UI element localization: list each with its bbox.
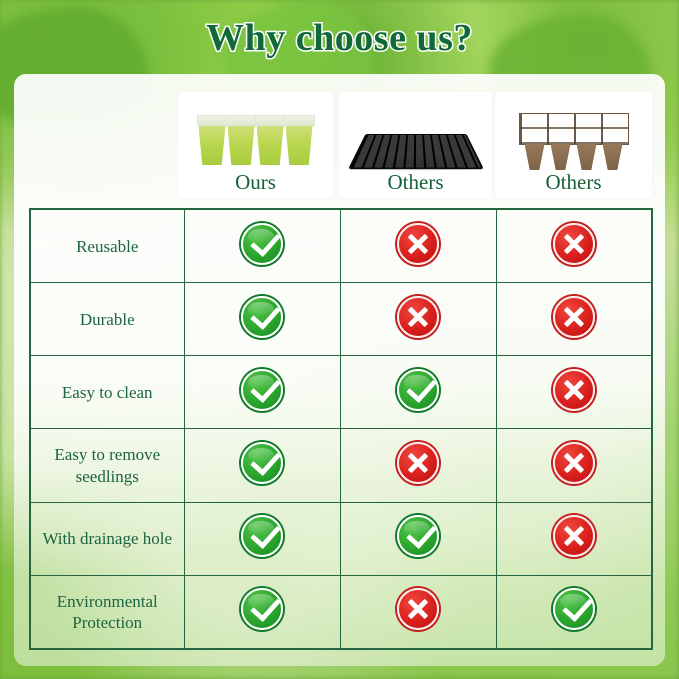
product-card-label-others-1: Others xyxy=(388,171,444,196)
table-row: Environmental Protection xyxy=(30,575,652,649)
check-mark-icon xyxy=(241,515,283,557)
check-mark-icon xyxy=(241,296,283,338)
comparison-table: ReusableDurableEasy to cleanEasy to remo… xyxy=(29,208,653,650)
mark-cell-ours xyxy=(184,356,340,429)
check-mark-icon xyxy=(397,515,439,557)
product-card-ours: Ours xyxy=(178,92,333,198)
product-card-others-black-tray: Others xyxy=(339,92,492,198)
mark-cell-others1 xyxy=(340,283,496,356)
table-row: With drainage hole xyxy=(30,502,652,575)
table-row: Reusable xyxy=(30,209,652,283)
black-plug-tray-icon xyxy=(339,99,492,171)
product-card-label-ours: Ours xyxy=(235,171,276,196)
check-mark-icon xyxy=(241,223,283,265)
feature-label-cell: With drainage hole xyxy=(30,502,184,575)
cross-mark-icon xyxy=(553,223,595,265)
mark-cell-others2 xyxy=(496,575,652,649)
product-card-label-others-2: Others xyxy=(546,171,602,196)
table-row: Durable xyxy=(30,283,652,356)
feature-label-cell: Reusable xyxy=(30,209,184,283)
cross-mark-icon xyxy=(553,369,595,411)
green-plastic-seedling-pots-icon xyxy=(178,99,333,171)
check-mark-icon xyxy=(397,369,439,411)
table-row: Easy to remove seedlings xyxy=(30,429,652,502)
cross-mark-icon xyxy=(553,515,595,557)
check-mark-icon xyxy=(241,369,283,411)
cross-mark-icon xyxy=(553,296,595,338)
mark-cell-ours xyxy=(184,429,340,502)
mark-cell-ours xyxy=(184,575,340,649)
mark-cell-others1 xyxy=(340,575,496,649)
cross-mark-icon xyxy=(397,442,439,484)
mark-cell-ours xyxy=(184,209,340,283)
feature-label-cell: Durable xyxy=(30,283,184,356)
cross-mark-icon xyxy=(397,296,439,338)
cross-mark-icon xyxy=(553,442,595,484)
mark-cell-others1 xyxy=(340,356,496,429)
mark-cell-others2 xyxy=(496,283,652,356)
mark-cell-ours xyxy=(184,283,340,356)
table-row: Easy to clean xyxy=(30,356,652,429)
mark-cell-ours xyxy=(184,502,340,575)
mark-cell-others2 xyxy=(496,356,652,429)
mark-cell-others1 xyxy=(340,209,496,283)
brown-peat-pulp-tray-icon xyxy=(495,99,652,171)
mark-cell-others1 xyxy=(340,429,496,502)
comparison-table-body: ReusableDurableEasy to cleanEasy to remo… xyxy=(30,209,652,649)
page-title: Why choose us? xyxy=(0,16,679,60)
product-card-others-peat-tray: Others xyxy=(495,92,652,198)
feature-label-cell: Easy to remove seedlings xyxy=(30,429,184,502)
mark-cell-others1 xyxy=(340,502,496,575)
check-mark-icon xyxy=(241,588,283,630)
mark-cell-others2 xyxy=(496,209,652,283)
feature-label-cell: Environmental Protection xyxy=(30,575,184,649)
mark-cell-others2 xyxy=(496,429,652,502)
mark-cell-others2 xyxy=(496,502,652,575)
cross-mark-icon xyxy=(397,588,439,630)
feature-label-cell: Easy to clean xyxy=(30,356,184,429)
check-mark-icon xyxy=(241,442,283,484)
cross-mark-icon xyxy=(397,223,439,265)
product-header-cards: Ours Others Others xyxy=(29,92,652,198)
check-mark-icon xyxy=(553,588,595,630)
